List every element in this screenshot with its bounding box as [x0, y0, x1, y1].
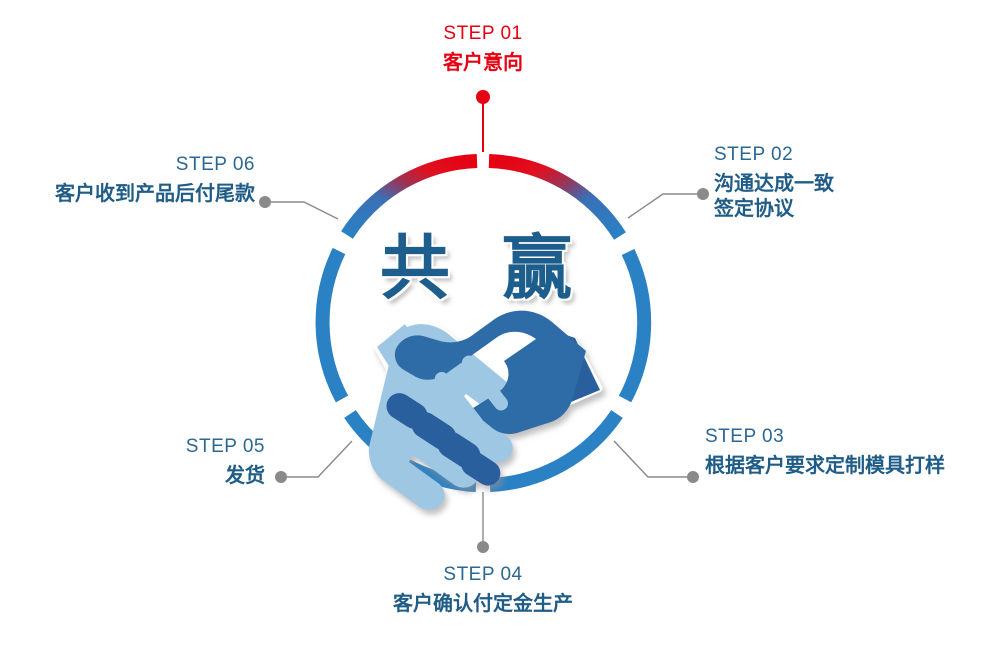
- connector-step-01: [476, 90, 490, 152]
- connector-step-02: [628, 188, 709, 218]
- connector-dot-step-03: [687, 471, 699, 483]
- step-text-06: 客户收到产品后付尾款: [15, 182, 255, 207]
- step-number-04: STEP 04: [383, 563, 583, 587]
- step-text-05: 发货: [90, 464, 265, 489]
- connector-dot-step-01: [476, 90, 490, 104]
- process-circle-diagram: [0, 0, 1000, 650]
- connector-dot-step-06: [259, 196, 271, 208]
- step-number-06: STEP 06: [15, 153, 255, 177]
- step-number-03: STEP 03: [705, 425, 995, 449]
- step-label-06[interactable]: STEP 06 客户收到产品后付尾款: [15, 153, 255, 207]
- step-label-01[interactable]: STEP 01 客户意向: [383, 22, 583, 76]
- step-label-05[interactable]: STEP 05 发货: [90, 435, 265, 489]
- infographic-canvas: 共 赢 STEP 01 客户意向 STEP 02 沟通达成一致 签定协议 STE…: [0, 0, 1000, 650]
- step-text-02-line1: 沟通达成一致: [714, 173, 834, 195]
- connector-dot-step-05: [275, 471, 287, 483]
- step-number-01: STEP 01: [383, 22, 583, 46]
- connector-step-04: [477, 492, 489, 553]
- handshake-icon: [369, 311, 600, 510]
- connector-step-03: [614, 441, 699, 483]
- connector-step-06: [259, 196, 338, 219]
- connector-step-05: [275, 441, 352, 483]
- step-text-04: 客户确认付定金生产: [383, 592, 583, 617]
- step-label-04[interactable]: STEP 04 客户确认付定金生产: [383, 563, 583, 617]
- step-text-02-line2: 签定协议: [714, 197, 974, 222]
- step-text-02: 沟通达成一致 签定协议: [714, 172, 974, 222]
- connector-dot-step-02: [697, 188, 709, 200]
- step-label-03[interactable]: STEP 03 根据客户要求定制模具打样: [705, 425, 995, 479]
- step-label-02[interactable]: STEP 02 沟通达成一致 签定协议: [714, 143, 974, 222]
- step-number-05: STEP 05: [90, 435, 265, 459]
- step-number-02: STEP 02: [714, 143, 974, 167]
- connector-dot-step-04: [477, 541, 489, 553]
- center-word: 共 赢: [333, 212, 633, 313]
- step-text-03: 根据客户要求定制模具打样: [705, 454, 995, 479]
- step-text-01: 客户意向: [383, 51, 583, 76]
